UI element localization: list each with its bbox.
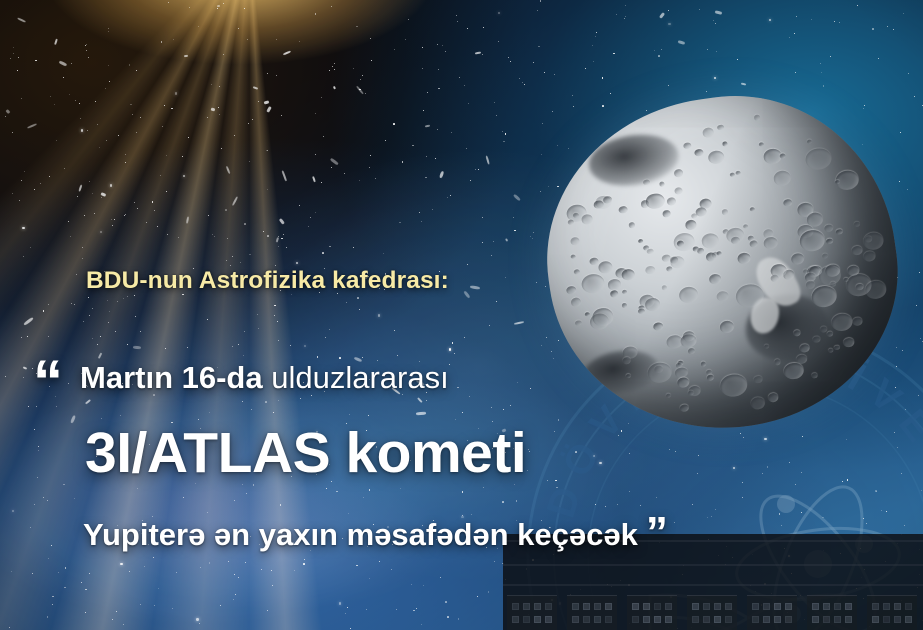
poster-canvas: BAKI DÖVLƏT UNİVERSİTETİ bbox=[0, 0, 923, 630]
poster-copy: BDU-nun Astrofizika kafedrası: “ Martın … bbox=[0, 0, 923, 630]
headline-line-2: 3I/ATLAS kometi bbox=[85, 425, 526, 482]
headline-line-3: Yupiterə ən yaxın məsafədən keçəcək” bbox=[83, 511, 668, 555]
poster-kicker: BDU-nun Astrofizika kafedrası: bbox=[86, 267, 449, 295]
headline-line-1-light: ulduzlararası bbox=[263, 360, 449, 395]
quote-open-mark: “ bbox=[33, 352, 63, 412]
quote-close-mark: ” bbox=[646, 508, 668, 557]
headline-line-1-strong: Martın 16-da bbox=[80, 360, 263, 395]
headline-line-3-text: Yupiterə ən yaxın məsafədən keçəcək bbox=[83, 517, 638, 552]
headline-line-1: Martın 16-da ulduzlararası bbox=[80, 362, 449, 393]
